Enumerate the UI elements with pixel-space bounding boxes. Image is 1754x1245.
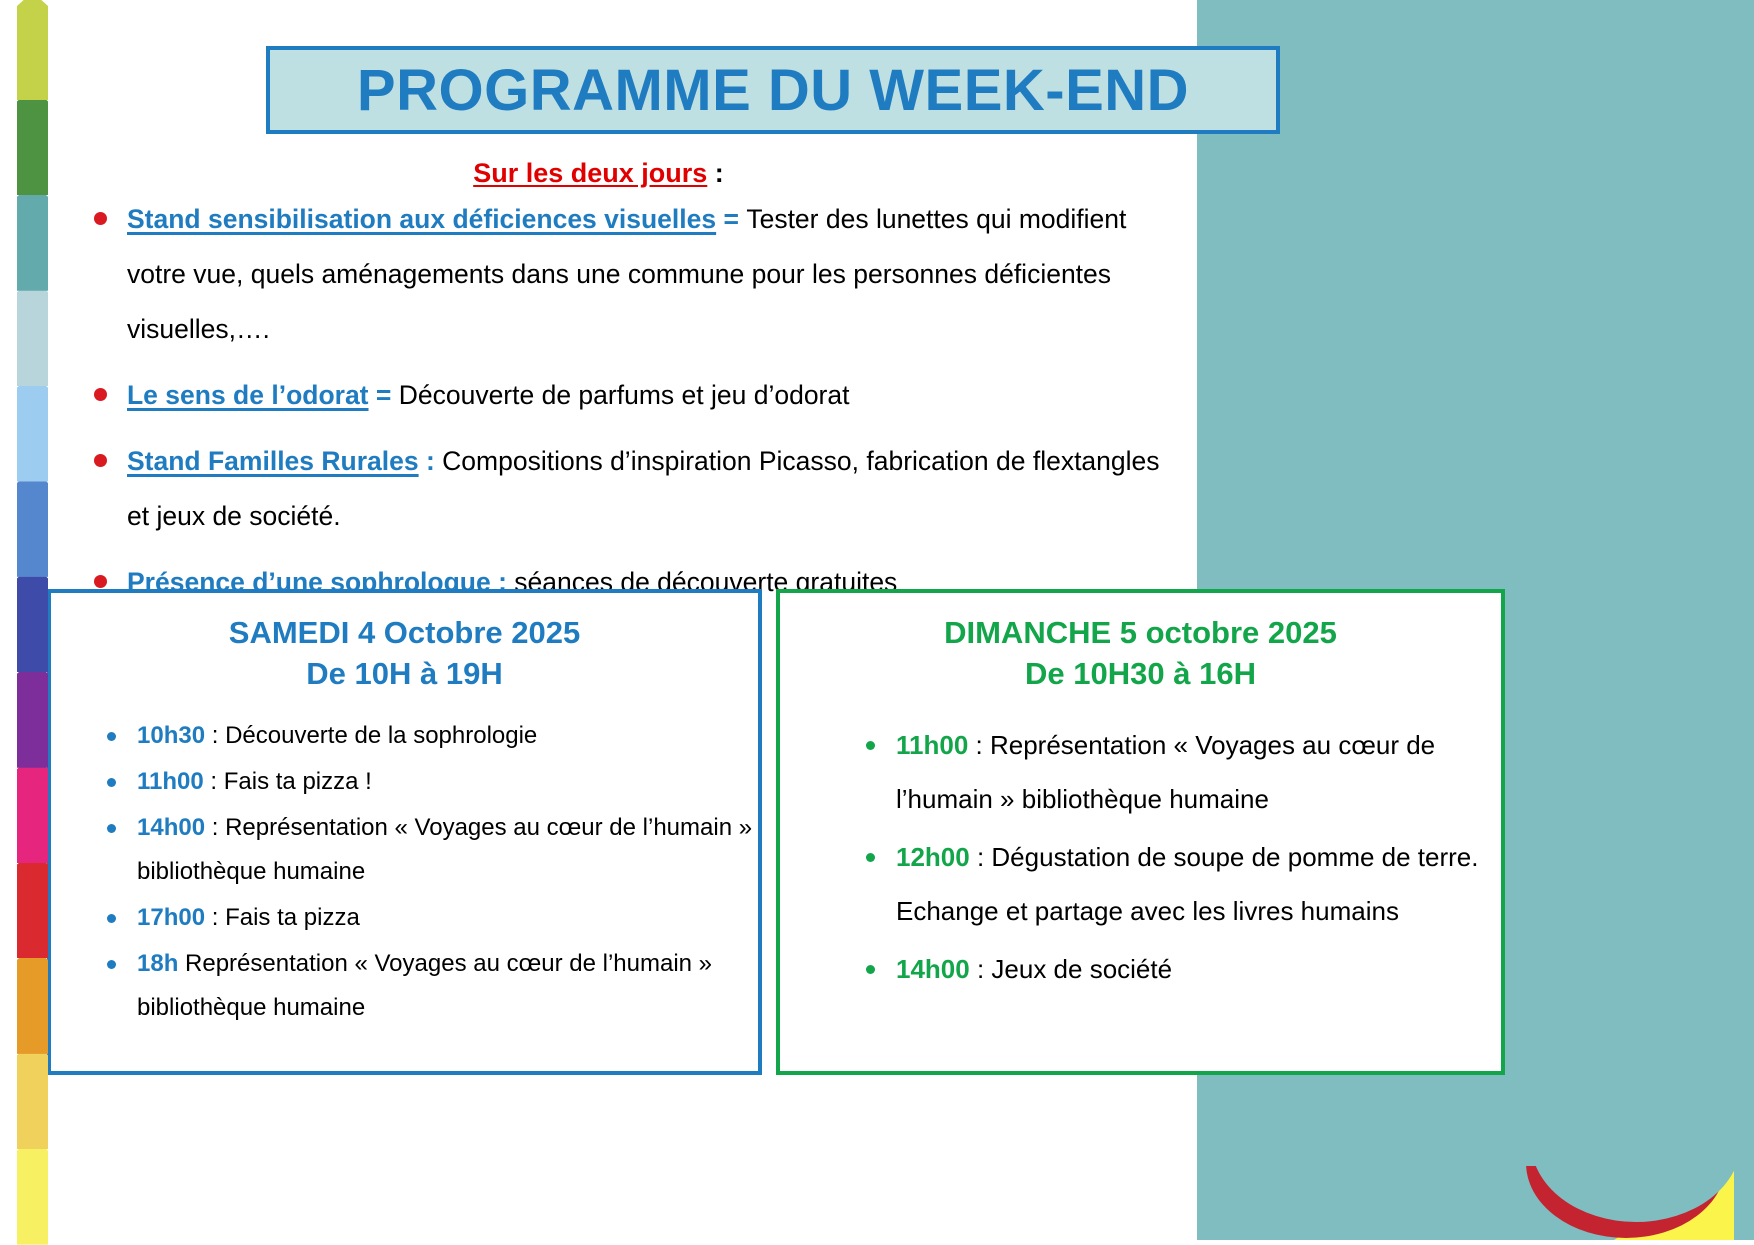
schedule-list-item: 11h00 : Représentation « Voyages au cœur… [858, 718, 1501, 826]
chevron-segment [17, 564, 48, 672]
schedule-text: Fais ta pizza [225, 904, 360, 931]
saturday-heading-line1: SAMEDI 4 Octobre 2025 [51, 612, 758, 653]
chevron-segment [17, 1041, 48, 1149]
bullet-dot-icon [107, 914, 116, 923]
bullet-dot-icon [94, 212, 107, 225]
chevron-segment [17, 946, 48, 1054]
schedule-separator: : [970, 954, 992, 984]
schedule-separator: : [970, 842, 992, 872]
schedule-text: Représentation « Voyages au cœur de l’hu… [137, 814, 752, 885]
bullet-dot-icon [866, 965, 875, 974]
schedule-list-item: 18h Représentation « Voyages au cœur de … [99, 942, 758, 1030]
schedule-text: Découverte de la sophrologie [225, 722, 537, 749]
list-item-separator: = [716, 204, 746, 234]
schedule-separator: : [205, 722, 225, 749]
chevron-segment [17, 469, 48, 577]
both-days-list-item: Stand Familles Rurales : Compositions d’… [88, 434, 1178, 544]
bullet-dot-icon [94, 454, 107, 467]
chevron-segment [17, 278, 48, 386]
chevron-segment [17, 87, 48, 195]
schedule-time: 11h00 [896, 730, 968, 760]
poster-slide: PROGRAMME DU WEEK-END Sur les deux jours… [0, 0, 1754, 1240]
bullet-dot-icon [107, 778, 116, 787]
bullet-dot-icon [107, 960, 116, 969]
bullet-dot-icon [94, 575, 107, 588]
sunday-panel: DIMANCHE 5 octobre 2025 De 10H30 à 16H 1… [776, 589, 1505, 1075]
schedule-time: 11h00 [137, 768, 204, 795]
page-title-box: PROGRAMME DU WEEK-END [266, 46, 1280, 134]
both-days-colon: : [707, 158, 724, 188]
list-item-lead: Le sens de l’odorat [127, 380, 369, 410]
chevron-segment [17, 755, 48, 863]
schedule-list-item: 14h00 : Jeux de société [858, 942, 1501, 996]
schedule-text: Jeux de société [991, 954, 1172, 984]
sunday-heading: DIMANCHE 5 octobre 2025 De 10H30 à 16H [780, 593, 1501, 694]
both-days-heading: Sur les deux jours : [0, 158, 1197, 189]
chevron-segment [17, 374, 48, 482]
sunday-schedule-list: 11h00 : Représentation « Voyages au cœur… [780, 718, 1501, 996]
list-item-separator: : [419, 446, 443, 476]
list-item-text: Découverte de parfums et jeu d’odorat [399, 380, 850, 410]
sunday-heading-line2: De 10H30 à 16H [780, 653, 1501, 694]
schedule-separator: : [205, 904, 225, 931]
chevron-segment [17, 1137, 48, 1245]
both-days-label: Sur les deux jours [473, 158, 707, 188]
schedule-time: 14h00 [137, 814, 205, 841]
schedule-text: Représentation « Voyages au cœur de l’hu… [137, 950, 712, 1021]
list-item-separator: = [369, 380, 399, 410]
saturday-schedule-list: 10h30 : Découverte de la sophrologie11h0… [51, 714, 758, 1030]
list-item-lead: Stand Familles Rurales [127, 446, 419, 476]
schedule-time: 14h00 [896, 954, 970, 984]
saturday-heading-line2: De 10H à 19H [51, 653, 758, 694]
schedule-time: 12h00 [896, 842, 970, 872]
bullet-dot-icon [107, 732, 116, 741]
schedule-time: 10h30 [137, 722, 205, 749]
schedule-list-item: 10h30 : Découverte de la sophrologie [99, 714, 758, 758]
list-item-lead: Stand sensibilisation aux déficiences vi… [127, 204, 716, 234]
chevron-segment [17, 183, 48, 291]
page-title: PROGRAMME DU WEEK-END [357, 57, 1189, 124]
schedule-list-item: 11h00 : Fais ta pizza ! [99, 760, 758, 804]
both-days-list-item: Stand sensibilisation aux déficiences vi… [88, 192, 1178, 357]
bullet-dot-icon [107, 824, 116, 833]
schedule-separator: : [205, 814, 225, 841]
chevron-segment [17, 660, 48, 768]
both-days-list: Stand sensibilisation aux déficiences vi… [88, 192, 1178, 621]
schedule-time: 17h00 [137, 904, 205, 931]
saturday-panel: SAMEDI 4 Octobre 2025 De 10H à 19H 10h30… [47, 589, 762, 1075]
bullet-dot-icon [866, 741, 875, 750]
saturday-heading: SAMEDI 4 Octobre 2025 De 10H à 19H [51, 593, 758, 694]
chevron-segment [17, 0, 48, 100]
schedule-list-item: 17h00 : Fais ta pizza [99, 896, 758, 940]
both-days-list-item: Le sens de l’odorat = Découverte de parf… [88, 368, 1178, 423]
schedule-time: 18h [137, 950, 178, 977]
chevron-segment [17, 850, 48, 958]
schedule-separator: : [968, 730, 990, 760]
bullet-dot-icon [866, 853, 875, 862]
schedule-list-item: 14h00 : Représentation « Voyages au cœur… [99, 806, 758, 894]
sunday-heading-line1: DIMANCHE 5 octobre 2025 [780, 612, 1501, 653]
schedule-list-item: 12h00 : Dégustation de soupe de pomme de… [858, 830, 1501, 938]
schedule-text: Fais ta pizza ! [224, 768, 372, 795]
chevron-color-strip [17, 0, 48, 1240]
bullet-dot-icon [94, 388, 107, 401]
schedule-separator: : [204, 768, 224, 795]
